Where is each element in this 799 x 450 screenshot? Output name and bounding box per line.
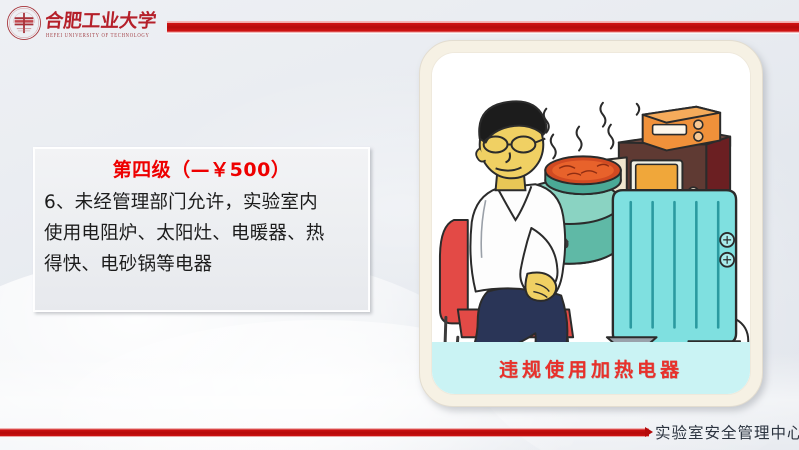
illustration-caption-band: 违规使用加热电器 bbox=[432, 342, 750, 394]
teal-oil-heater-icon bbox=[607, 190, 748, 353]
illustration-caption: 违规使用加热电器 bbox=[499, 355, 683, 382]
header-red-rule bbox=[167, 21, 799, 33]
slide-canvas: 合肥工业大学 HEFEI UNIVERSITY OF TECHNOLOGY 第四… bbox=[0, 0, 799, 450]
illustration-inner: 违规使用加热电器 bbox=[431, 52, 751, 395]
university-seal-icon bbox=[6, 5, 42, 41]
panel-body-line-1: 6、未经管理部门允许，实验室内 bbox=[44, 187, 359, 218]
panel-body-line-3: 得快、电砂锅等电器 bbox=[44, 249, 359, 280]
slide-footer: 实验室安全管理中心 bbox=[0, 416, 799, 450]
footer-arrow-icon bbox=[645, 427, 653, 437]
illustration-frame: 违规使用加热电器 bbox=[419, 40, 763, 407]
panel-title: 第四级（—￥500） bbox=[44, 156, 359, 185]
content-text-panel: 第四级（—￥500） 6、未经管理部门允许，实验室内 使用电阻炉、太阳灶、电暖器… bbox=[33, 147, 370, 312]
footer-organization: 实验室安全管理中心 bbox=[655, 421, 799, 443]
svg-text:合肥工业大学: 合肥工业大学 bbox=[46, 10, 158, 31]
footer-red-rule bbox=[0, 428, 649, 437]
panel-body-line-2: 使用电阻炉、太阳灶、电暖器、热 bbox=[44, 218, 359, 249]
